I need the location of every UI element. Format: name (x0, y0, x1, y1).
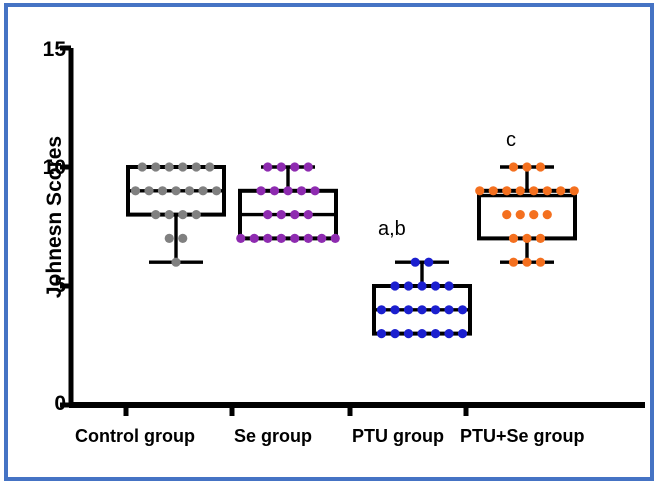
data-point (331, 234, 340, 243)
data-point (536, 234, 545, 243)
box-rect (479, 191, 575, 239)
data-point (417, 305, 426, 314)
data-point (290, 162, 299, 171)
data-point (489, 186, 498, 195)
data-point (431, 329, 440, 338)
axes-layer (60, 48, 645, 416)
data-point (502, 210, 511, 219)
data-point (256, 186, 265, 195)
data-point (171, 258, 180, 267)
data-point (458, 305, 467, 314)
data-point (165, 210, 174, 219)
data-point (283, 186, 292, 195)
plot-area (0, 0, 661, 488)
data-point (304, 162, 313, 171)
data-point (178, 210, 187, 219)
data-point (444, 305, 453, 314)
data-point (404, 305, 413, 314)
data-point (263, 234, 272, 243)
data-point (192, 162, 201, 171)
data-point (424, 258, 433, 267)
data-point (317, 234, 326, 243)
data-point (536, 258, 545, 267)
data-point (263, 210, 272, 219)
data-point (522, 162, 531, 171)
data-point (290, 210, 299, 219)
data-point (131, 186, 140, 195)
data-point (277, 210, 286, 219)
data-point (522, 234, 531, 243)
data-point (404, 281, 413, 290)
data-point (444, 281, 453, 290)
data-point (310, 186, 319, 195)
data-point (522, 258, 531, 267)
data-point (516, 186, 525, 195)
data-point (185, 186, 194, 195)
box-plot-group-1 (128, 162, 224, 266)
data-point (205, 162, 214, 171)
data-point (509, 258, 518, 267)
box-plot-group-2 (236, 162, 340, 243)
data-point (556, 186, 565, 195)
data-point (377, 305, 386, 314)
data-point (277, 162, 286, 171)
data-point (390, 281, 399, 290)
data-point (404, 329, 413, 338)
data-point (144, 186, 153, 195)
box-plot-group-3 (374, 258, 470, 339)
data-point (570, 186, 579, 195)
data-point (431, 305, 440, 314)
data-point (171, 186, 180, 195)
data-point (502, 186, 511, 195)
data-point (377, 329, 386, 338)
data-point (529, 186, 538, 195)
data-point (417, 281, 426, 290)
data-point (277, 234, 286, 243)
data-point (458, 329, 467, 338)
data-point (198, 186, 207, 195)
data-point (543, 210, 552, 219)
data-point (212, 186, 221, 195)
figure-root: Johnesn Scores 15 10 5 0 Control group S… (0, 0, 661, 488)
data-point (158, 186, 167, 195)
data-point (536, 162, 545, 171)
data-point (192, 210, 201, 219)
data-point (151, 162, 160, 171)
data-point (509, 234, 518, 243)
data-point (151, 210, 160, 219)
data-point (263, 162, 272, 171)
data-point (417, 329, 426, 338)
data-point (543, 186, 552, 195)
data-point (236, 234, 245, 243)
box-plot-group-4 (475, 162, 579, 266)
data-point (178, 162, 187, 171)
data-point (297, 186, 306, 195)
data-point (509, 162, 518, 171)
data-point (411, 258, 420, 267)
data-point (290, 234, 299, 243)
data-point (516, 210, 525, 219)
data-point (304, 210, 313, 219)
data-point (444, 329, 453, 338)
data-point (250, 234, 259, 243)
data-point (138, 162, 147, 171)
data-point (475, 186, 484, 195)
data-point (390, 305, 399, 314)
box-plot-layer (128, 162, 579, 338)
data-point (270, 186, 279, 195)
data-point (529, 210, 538, 219)
data-point (390, 329, 399, 338)
data-point (304, 234, 313, 243)
data-point (165, 162, 174, 171)
data-point (431, 281, 440, 290)
data-point (165, 234, 174, 243)
data-point (178, 234, 187, 243)
